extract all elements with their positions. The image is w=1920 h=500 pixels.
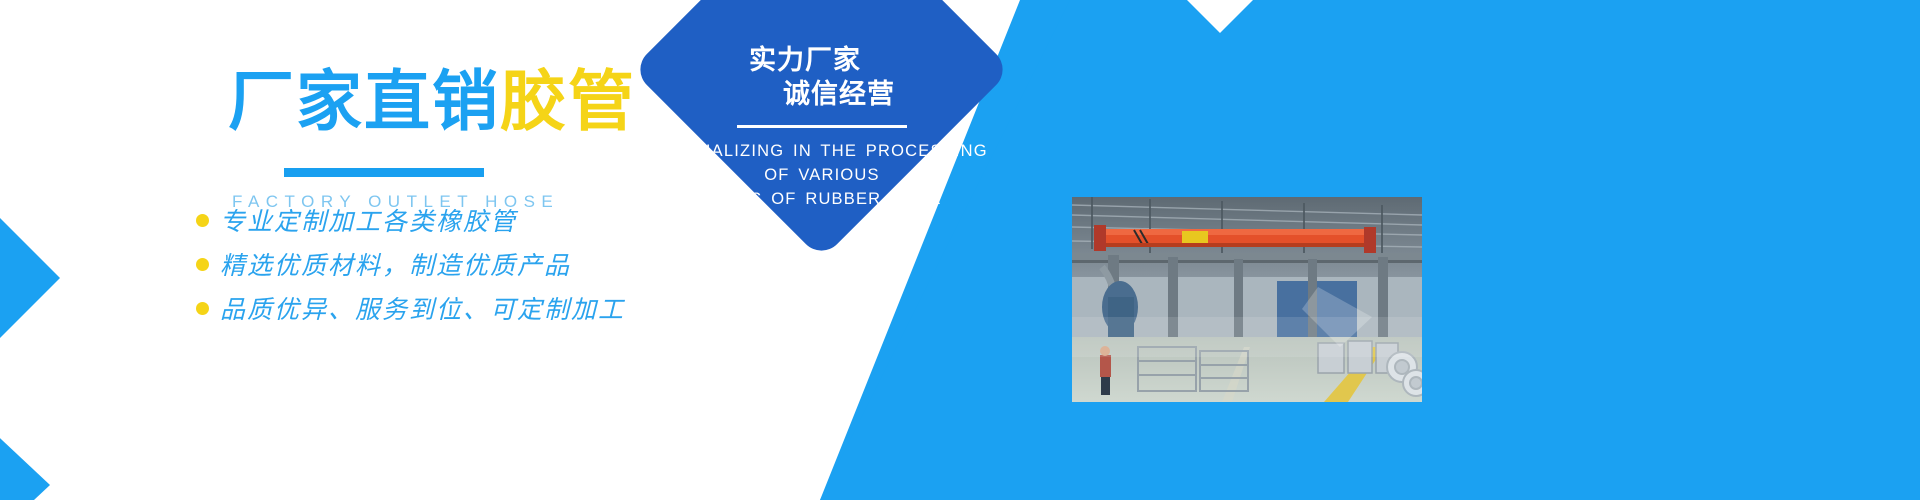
diamond-en-line2: OF VARIOUS — [656, 164, 988, 188]
headline-part-blue: 厂家直销 — [228, 64, 500, 138]
list-item: 品质优异、服务到位、可定制加工 — [196, 288, 666, 328]
bullet-dot-icon — [196, 302, 209, 315]
diamond-slogan-line2: 诚信经营 — [783, 78, 895, 111]
diamond-en-line1: SPECIALIZING IN THE PROCESSING — [656, 140, 988, 164]
page-title: 厂家直销胶管 — [228, 68, 636, 134]
diamond-badge: 实力厂家 诚信经营 SPECIALIZING IN THE PROCESSING… — [632, 0, 1012, 260]
diamond-divider — [737, 125, 907, 128]
feature-list: 专业定制加工各类橡胶管 精选优质材料，制造优质产品 品质优异、服务到位、可定制加… — [196, 200, 666, 332]
list-item: 精选优质材料，制造优质产品 — [196, 244, 666, 284]
diamond-content: 实力厂家 诚信经营 SPECIALIZING IN THE PROCESSING… — [632, 0, 1012, 260]
list-item: 专业定制加工各类橡胶管 — [196, 200, 666, 240]
list-item-label: 品质优异、服务到位、可定制加工 — [220, 290, 625, 326]
diamond-en-line3: TYPES OF RUBBER HOSE — [656, 188, 988, 212]
diamond-chinese-slogan: 实力厂家 诚信经营 — [749, 44, 895, 111]
left-text-block: 厂家直销胶管 FACTORY OUTLET HOSE 专业定制加工各类橡胶管 精… — [0, 0, 660, 500]
bullet-dot-icon — [196, 214, 209, 227]
headline-part-yellow: 胶管 — [500, 64, 636, 138]
headline-divider — [284, 168, 484, 177]
diamond-slogan-line1: 实力厂家 — [715, 44, 895, 77]
factory-photo — [1072, 197, 1422, 402]
list-item-label: 专业定制加工各类橡胶管 — [220, 202, 517, 238]
promo-banner: 厂家直销胶管 FACTORY OUTLET HOSE 专业定制加工各类橡胶管 精… — [0, 0, 1920, 500]
diamond-english-slogan: SPECIALIZING IN THE PROCESSING OF VARIOU… — [656, 140, 988, 212]
list-item-label: 精选优质材料，制造优质产品 — [220, 246, 571, 282]
bullet-dot-icon — [196, 258, 209, 271]
factory-photo-illustration — [1072, 197, 1422, 402]
